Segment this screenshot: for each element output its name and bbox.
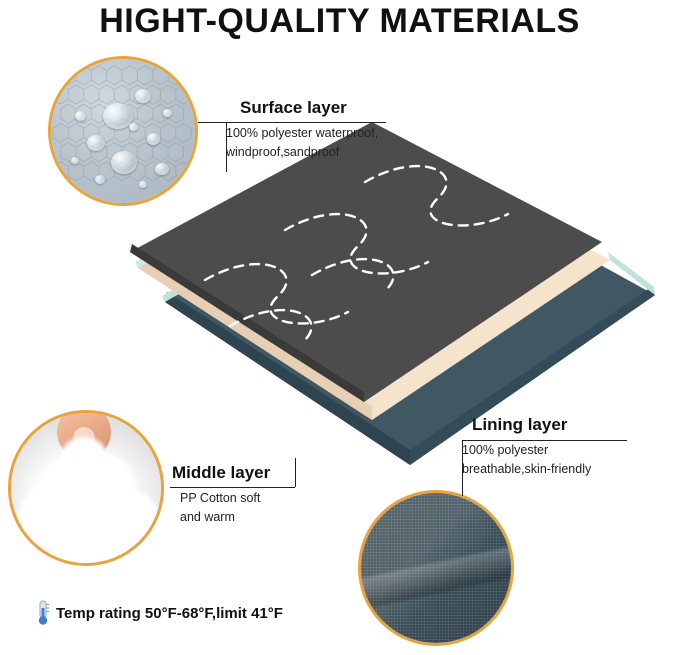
callout-surface-layer: Surface layer 100% polyester waterproof,…: [226, 98, 378, 162]
water-droplet: [155, 163, 169, 175]
callout-lining-line-2: breathable,skin-friendly: [462, 460, 591, 479]
callout-lining-title: Lining layer: [472, 415, 591, 435]
layers-illustration: [110, 120, 679, 510]
water-droplet: [111, 151, 137, 174]
callout-lining-body: 100% polyester breathable,skin-friendly: [462, 441, 591, 479]
callout-lining-rule-top: [462, 440, 627, 441]
callout-middle-line-1: PP Cotton soft: [180, 489, 270, 508]
page-title: HIGHT-QUALITY MATERIALS: [0, 2, 679, 41]
hex-mesh-texture: [51, 59, 195, 203]
material-infographic: HIGHT-QUALITY MATERIALS: [0, 0, 679, 655]
callout-middle-rule-top: [170, 487, 295, 488]
callout-middle-layer: Middle layer PP Cotton soft and warm: [168, 463, 270, 527]
callout-surface-leader: [198, 122, 226, 123]
callout-lining-line-1: 100% polyester: [462, 441, 591, 460]
callout-surface-body: 100% polyester waterproof, windproof,san…: [226, 124, 378, 162]
lining-fabric-photo: [361, 493, 511, 643]
temp-rating-text: Temp rating 50°F-68°F,limit 41°F: [56, 605, 283, 622]
water-droplets-photo: [51, 59, 195, 203]
surface-layer-photo: [48, 56, 198, 206]
callout-lining-rule-left: [462, 440, 463, 496]
water-droplet: [75, 111, 86, 121]
cotton-fill-photo: [11, 413, 161, 563]
temp-rating-row: Temp rating 50°F-68°F,limit 41°F: [36, 600, 283, 626]
thermometer-icon: [36, 600, 50, 626]
cotton-fluff: [61, 437, 107, 475]
callout-lining-layer: Lining layer 100% polyester breathable,s…: [462, 415, 591, 479]
callout-surface-rule-left: [226, 122, 227, 172]
callout-middle-line-2: and warm: [180, 508, 270, 527]
callout-surface-line-1: 100% polyester waterproof,: [226, 124, 378, 143]
lining-layer-photo: [358, 490, 514, 646]
middle-layer-photo: [8, 410, 164, 566]
callout-middle-body: PP Cotton soft and warm: [180, 489, 270, 527]
water-droplet: [95, 175, 105, 184]
callout-surface-rule-top: [226, 122, 386, 123]
cotton-fluff: [51, 513, 129, 566]
water-droplet: [71, 157, 79, 164]
callout-surface-title: Surface layer: [240, 98, 378, 118]
callout-middle-title: Middle layer: [172, 463, 270, 483]
water-droplet: [139, 181, 147, 188]
callout-surface-line-2: windproof,sandproof: [226, 143, 378, 162]
water-droplet: [163, 109, 172, 117]
water-droplet: [129, 123, 138, 131]
water-droplet: [147, 133, 160, 145]
water-droplet: [87, 135, 105, 151]
callout-middle-rule-right: [295, 458, 296, 487]
water-droplet: [135, 89, 151, 103]
